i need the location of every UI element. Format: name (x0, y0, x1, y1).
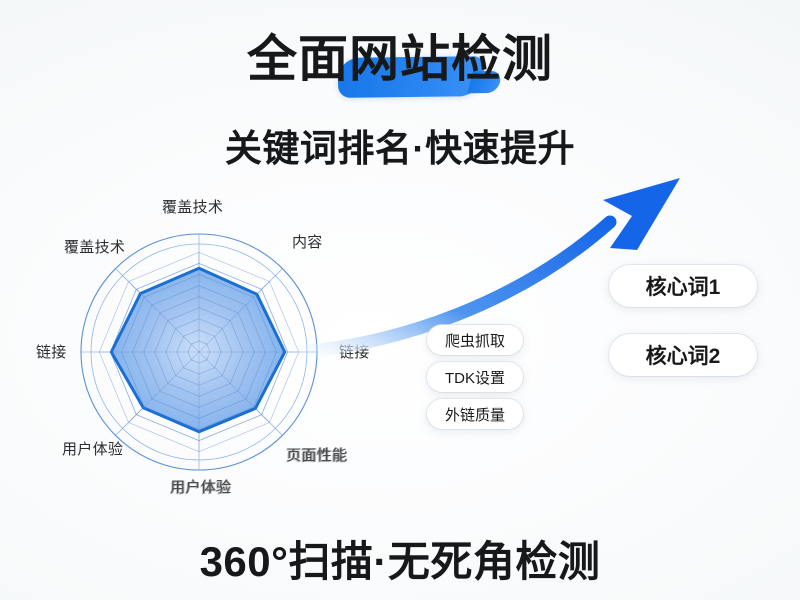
radar-inner-rings (99, 252, 298, 451)
page-footer-tagline: 360°扫描·无死角检测 (0, 528, 800, 589)
tag-pill-crawl-label: 爬虫抓取 (445, 330, 505, 351)
radar-label-top: 覆盖技术 (162, 196, 223, 217)
keyword-pill-2-label: 核心词2 (646, 340, 721, 370)
arrow-head (603, 178, 680, 250)
keyword-pill-2[interactable]: 核心词2 (609, 334, 757, 376)
tag-pill-crawl[interactable]: 爬虫抓取 (427, 325, 523, 355)
radar-label-top-left: 覆盖技术 (64, 236, 125, 257)
radar-label-top-right: 内容 (292, 231, 323, 252)
tag-pill-backlinks[interactable]: 外链质量 (427, 399, 523, 429)
keyword-pill-1-label: 核心词1 (646, 271, 721, 301)
radar-label-bottom-right: 页面性能 (286, 444, 347, 465)
radar-label-right: 链接 (339, 341, 370, 362)
poster-canvas: 全面网站检测 关键词排名·快速提升 覆盖技术 内 (0, 0, 800, 600)
page-title-text: 全面网站检测 (247, 31, 553, 87)
tag-pill-tdk-label: TDK设置 (445, 367, 505, 388)
page-subtitle: 关键词排名·快速提升 (0, 118, 800, 172)
radar-chart: 覆盖技术 内容 链接 页面性能 用户体验 用户体验 链接 覆盖技术 (14, 186, 414, 516)
tag-pill-tdk[interactable]: TDK设置 (427, 362, 523, 392)
radar-label-bottom-left: 用户体验 (62, 438, 123, 459)
page-title: 全面网站检测 (247, 33, 553, 86)
keyword-pill-1[interactable]: 核心词1 (609, 265, 757, 307)
page-title-block: 全面网站检测 (0, 33, 800, 86)
radar-label-bottom: 用户体验 (170, 476, 231, 497)
radar-label-left: 链接 (36, 341, 67, 362)
tag-pill-backlinks-label: 外链质量 (445, 404, 505, 425)
